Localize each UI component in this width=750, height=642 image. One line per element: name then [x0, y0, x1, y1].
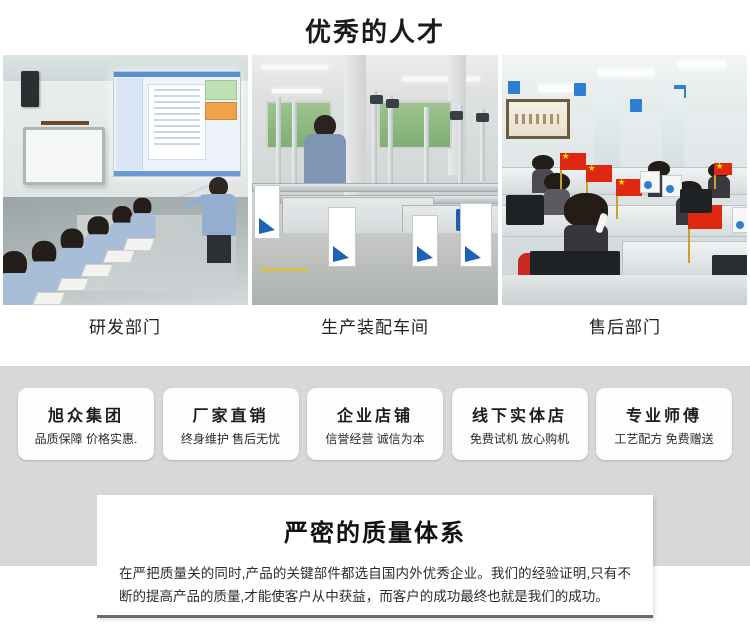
- frame-beam: [252, 183, 497, 192]
- feature-card-master-technician[interactable]: 专业师傅 工艺配方 免费赠送: [596, 388, 732, 460]
- computer-monitor: [506, 195, 544, 225]
- feature-card-direct-sales[interactable]: 厂家直销 终身维护 售后无忧: [163, 388, 299, 460]
- feature-card-offline-store[interactable]: 线下实体店 免费试机 放心购机: [452, 388, 588, 460]
- quality-title: 严密的质量体系: [119, 513, 631, 548]
- whiteboard-rail: [41, 121, 89, 125]
- screen-statusbar: [114, 171, 240, 176]
- screen-toolbar: [114, 72, 240, 77]
- floor-marking: [260, 268, 308, 271]
- motor: [370, 95, 383, 104]
- motor: [450, 111, 463, 120]
- china-flag-icon: [714, 163, 732, 175]
- china-flag-icon: [586, 165, 612, 182]
- feature-card-sub: 终身维护 售后无忧: [181, 430, 280, 447]
- photo-assembly-workshop: [252, 55, 497, 305]
- machine-post: [372, 91, 377, 187]
- projection-screen: [113, 71, 241, 177]
- screen-panel-orange: [205, 102, 237, 120]
- machine-post: [424, 107, 429, 183]
- feature-card-title: 企业店铺: [337, 402, 413, 426]
- machine-post: [388, 95, 393, 187]
- page-title: 优秀的人才: [0, 0, 750, 50]
- feature-card-group[interactable]: 旭众集团 品质保障 价格实惠.: [18, 388, 154, 460]
- seated-employees: [3, 187, 177, 305]
- photo-rd-department: [3, 55, 248, 305]
- caption-after-sales-department: 售后部门: [500, 305, 750, 366]
- ceiling-light: [598, 69, 654, 76]
- ceiling-light: [538, 85, 578, 92]
- caption-rd-department: 研发部门: [0, 305, 250, 366]
- ceiling-light: [678, 61, 726, 68]
- feature-card-shop[interactable]: 企业店铺 信誉经营 诚信为本: [307, 388, 443, 460]
- feature-card-row: 旭众集团 品质保障 价格实惠. 厂家直销 终身维护 售后无忧 企业店铺 信誉经营…: [18, 388, 732, 460]
- machine-post: [276, 97, 281, 183]
- screen-document: [148, 84, 206, 160]
- china-flag-icon: [616, 179, 642, 196]
- caption-assembly-workshop: 生产装配车间: [250, 305, 500, 366]
- machine-panel: [412, 215, 438, 267]
- motor: [386, 99, 399, 108]
- machine-panel: [460, 203, 492, 267]
- desk-card: [640, 171, 660, 193]
- china-flag-icon: [560, 153, 586, 170]
- hanging-sign: [574, 83, 586, 96]
- motor: [476, 113, 489, 122]
- desk-card: [662, 175, 682, 197]
- machine-panel: [328, 207, 356, 267]
- feature-card-title: 旭众集团: [48, 402, 124, 426]
- screen-panel-green: [205, 80, 237, 100]
- quality-text: 在严把质量关的同时,产品的关键部件都选自国内外优秀企业。我们的经验证明,只有不断…: [119, 562, 631, 608]
- feature-card-sub: 免费试机 放心购机: [470, 430, 569, 447]
- desk-card: [732, 207, 747, 233]
- hanging-sign: [508, 81, 520, 94]
- ceiling-light: [262, 65, 328, 69]
- machine-post: [292, 101, 297, 183]
- promo-page: 优秀的人才: [0, 0, 750, 642]
- presenter-person: [202, 177, 236, 261]
- photo-captions: 研发部门 生产装配车间 售后部门: [0, 305, 750, 366]
- photo-after-sales-office: [502, 55, 747, 305]
- factory-worker: [304, 115, 346, 187]
- feature-card-title: 专业师傅: [626, 402, 702, 426]
- ceiling-light: [272, 89, 322, 93]
- ceiling-light: [402, 77, 480, 81]
- quality-system-box: 严密的质量体系 在严把质量关的同时,产品的关键部件都选自国内外优秀企业。我们的经…: [97, 495, 653, 618]
- whiteboard: [23, 127, 105, 185]
- window: [594, 89, 620, 175]
- office-desk: [502, 275, 747, 305]
- feature-card-sub: 信誉经营 诚信为本: [325, 430, 424, 447]
- photo-row: [3, 55, 747, 305]
- feature-card-title: 线下实体店: [472, 402, 567, 426]
- feature-card-sub: 工艺配方 免费赠送: [614, 430, 713, 447]
- machine-panel: [254, 185, 280, 239]
- screen-sidebar: [116, 78, 143, 170]
- computer-monitor: [680, 189, 712, 213]
- wall-painting: [506, 99, 570, 139]
- feature-card-sub: 品质保障 价格实惠.: [35, 430, 138, 447]
- feature-card-title: 厂家直销: [192, 402, 268, 426]
- speaker-icon: [21, 71, 39, 107]
- pillar: [344, 55, 366, 195]
- hanging-sign: [630, 99, 642, 112]
